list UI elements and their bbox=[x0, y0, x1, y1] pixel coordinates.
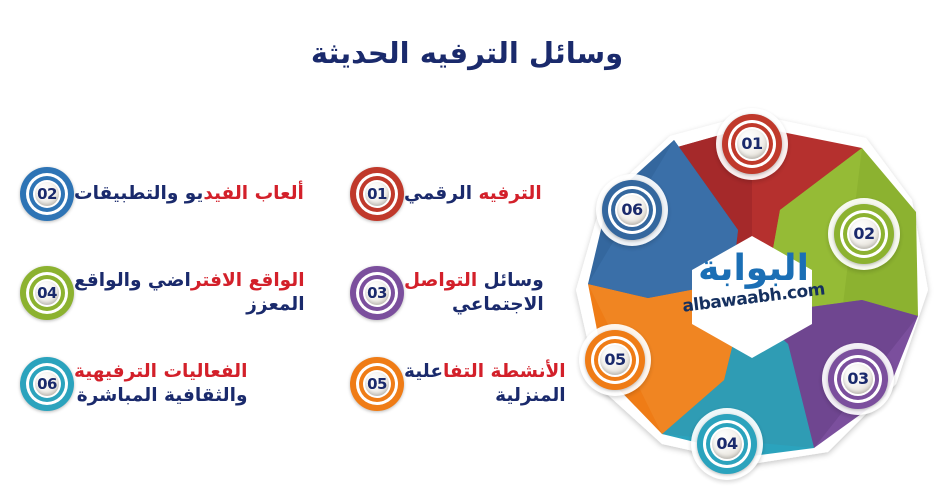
label-line: والثقافية المباشرة bbox=[74, 384, 247, 408]
list-item[interactable]: الترفيه الرقمي 01 bbox=[350, 167, 555, 221]
page-title: وسائل الترفيه الحديثة bbox=[0, 36, 934, 70]
list-item-label: ألعاب الفيديو والتطبيقات bbox=[74, 182, 304, 206]
label-segment: المنزلية bbox=[495, 385, 565, 406]
list-item-label: الواقع الافتراضي والواقع المعزز bbox=[74, 269, 305, 316]
wheel-badge-03[interactable]: 03 bbox=[828, 349, 888, 409]
badge-03[interactable]: 03 bbox=[350, 266, 404, 320]
badge-number: 02 bbox=[37, 187, 57, 202]
label-line: الاجتماعي bbox=[404, 293, 544, 317]
list-item[interactable]: ألعاب الفيديو والتطبيقات 02 bbox=[20, 167, 305, 221]
label-line: ألعاب الفيديو والتطبيقات bbox=[74, 182, 304, 206]
wheel-badge-01-wrap[interactable]: 01 bbox=[722, 114, 782, 174]
badge-core: 01 bbox=[737, 129, 767, 159]
label-segment: ألعاب الفيد bbox=[203, 183, 304, 204]
list-item-label: وسائل التواصل الاجتماعي bbox=[404, 269, 544, 316]
badge-number: 04 bbox=[716, 436, 737, 452]
wheel-badge-05[interactable]: 05 bbox=[585, 330, 645, 390]
badge-number: 03 bbox=[847, 371, 868, 387]
badge-core: 04 bbox=[712, 429, 742, 459]
label-segment: الفعاليات الترفيهية bbox=[74, 361, 247, 382]
badge-05[interactable]: 05 bbox=[350, 357, 404, 411]
badge-02[interactable]: 02 bbox=[20, 167, 74, 221]
wheel-badge-04-wrap[interactable]: 04 bbox=[697, 414, 757, 474]
label-line: المعزز bbox=[74, 293, 305, 317]
label-segment: الترفيه bbox=[472, 183, 542, 204]
badge-core: 02 bbox=[849, 219, 879, 249]
badge-core: 05 bbox=[600, 345, 630, 375]
list-item[interactable]: الأنشطة التفاعلية المنزلية 05 bbox=[350, 357, 555, 411]
label-segment: الاجتماعي bbox=[452, 294, 544, 315]
label-line: المنزلية bbox=[404, 384, 566, 408]
badge-core: 06 bbox=[617, 195, 647, 225]
badge-core: 03 bbox=[843, 364, 873, 394]
wheel-badge-05-wrap[interactable]: 05 bbox=[585, 330, 645, 390]
badge-number: 06 bbox=[37, 377, 57, 392]
label-segment: المعزز bbox=[246, 294, 304, 315]
badge-06[interactable]: 06 bbox=[20, 357, 74, 411]
label-segment: وسائل bbox=[477, 270, 544, 291]
badge-core: 06 bbox=[35, 372, 59, 396]
label-segment: اضي والواقع bbox=[74, 270, 191, 291]
badge-core: 03 bbox=[365, 281, 389, 305]
label-segment: الواقع الافتر bbox=[191, 270, 305, 291]
wheel-badge-03-wrap[interactable]: 03 bbox=[828, 349, 888, 409]
wheel-badge-02-wrap[interactable]: 02 bbox=[834, 204, 894, 264]
badge-number: 02 bbox=[853, 226, 874, 242]
badge-core: 02 bbox=[35, 182, 59, 206]
badge-number: 03 bbox=[367, 286, 387, 301]
wheel-badge-04[interactable]: 04 bbox=[697, 414, 757, 474]
label-segment: يو والتطبيقات bbox=[74, 183, 203, 204]
badge-number: 05 bbox=[367, 377, 387, 392]
badge-number: 04 bbox=[37, 286, 57, 301]
list-item[interactable]: الفعاليات الترفيهية والثقافية المباشرة 0… bbox=[20, 357, 305, 411]
badge-number: 05 bbox=[604, 352, 625, 368]
badge-core: 05 bbox=[365, 372, 389, 396]
list-item-label: الأنشطة التفاعلية المنزلية bbox=[404, 360, 566, 407]
badge-core: 04 bbox=[35, 281, 59, 305]
badge-number: 01 bbox=[367, 187, 387, 202]
wheel-badge-06-wrap[interactable]: 06 bbox=[602, 180, 662, 240]
badge-04[interactable]: 04 bbox=[20, 266, 74, 320]
label-line: الفعاليات الترفيهية bbox=[74, 360, 247, 384]
wheel-badge-06[interactable]: 06 bbox=[602, 180, 662, 240]
label-segment: التواصل bbox=[404, 270, 477, 291]
wheel-badge-01[interactable]: 01 bbox=[722, 114, 782, 174]
label-line: وسائل التواصل bbox=[404, 269, 544, 293]
label-line: الواقع الافتراضي والواقع bbox=[74, 269, 305, 293]
label-segment: والثقافية المباشرة bbox=[77, 385, 248, 406]
badge-number: 01 bbox=[741, 136, 762, 152]
label-segment: الرقمي bbox=[404, 183, 472, 204]
label-line: الأنشطة التفاعلية bbox=[404, 360, 566, 384]
list-item-label: الترفيه الرقمي bbox=[404, 182, 542, 206]
list-item[interactable]: الواقع الافتراضي والواقع المعزز 04 bbox=[20, 266, 305, 320]
label-segment: الأنشطة التفا bbox=[443, 361, 566, 382]
badge-number: 06 bbox=[621, 202, 642, 218]
badge-01[interactable]: 01 bbox=[350, 167, 404, 221]
pinwheel-diagram: البوابة albawaabh.com 01 02 bbox=[566, 104, 934, 476]
label-segment: علية bbox=[404, 361, 443, 382]
list-item-label: الفعاليات الترفيهية والثقافية المباشرة bbox=[74, 360, 247, 407]
wheel-badge-02[interactable]: 02 bbox=[834, 204, 894, 264]
badge-core: 01 bbox=[365, 182, 389, 206]
label-line: الترفيه الرقمي bbox=[404, 182, 542, 206]
list-item[interactable]: وسائل التواصل الاجتماعي 03 bbox=[350, 266, 555, 320]
